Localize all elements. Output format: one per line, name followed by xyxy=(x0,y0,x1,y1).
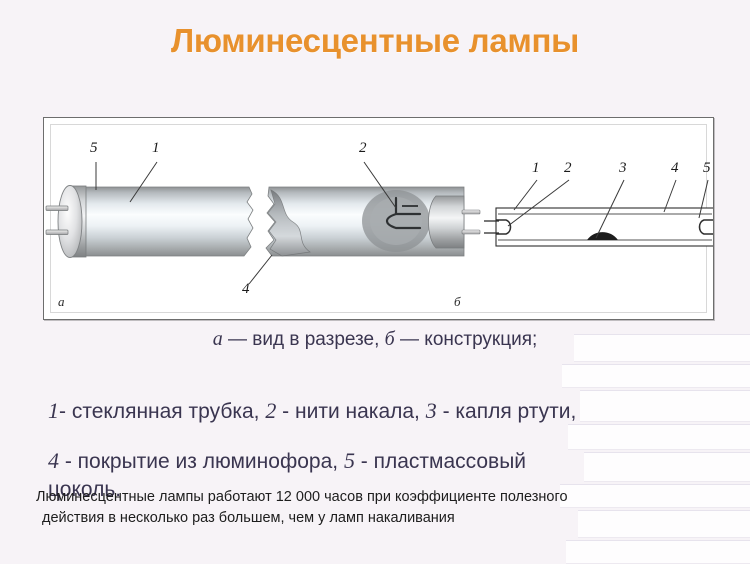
callout-b-5: 5 xyxy=(703,160,711,177)
callout-a-2: 2 xyxy=(359,140,367,157)
panel-letter-a: а xyxy=(58,294,65,310)
legend-text-3: - капля ртути, xyxy=(437,400,577,423)
legend-number-5: 5 xyxy=(344,448,355,473)
note-block: Люминесцентные лампы работают 12 000 час… xyxy=(36,487,676,529)
legend-number-3: 3 xyxy=(426,398,437,423)
book-stack-layer xyxy=(568,424,750,450)
legend-text-2: - нити накала, xyxy=(276,400,425,423)
callout-b-1: 1 xyxy=(532,160,540,177)
page-title: Люминесцентные лампы xyxy=(0,22,750,60)
legend-number-4: 4 xyxy=(48,448,59,473)
book-stack-layer xyxy=(566,540,750,564)
caption-text-b: — конструкция; xyxy=(395,329,538,350)
callout-a-5: 5 xyxy=(90,140,98,157)
legend-text-5: - пластмассовый xyxy=(355,450,526,473)
legend-number-1: 1 xyxy=(48,398,59,423)
callout-b-2: 2 xyxy=(564,160,572,177)
legend-line-2: 4 - покрытие из люминофора, 5 - пластмас… xyxy=(48,448,526,474)
panel-letter-b: б xyxy=(454,294,461,310)
note-line-1: Люминесцентные лампы работают 12 000 час… xyxy=(36,489,568,505)
book-stack-layer xyxy=(580,390,750,422)
legend-text-1: - стеклянная трубка, xyxy=(59,400,265,423)
callout-a-1: 1 xyxy=(152,140,160,157)
figure-caption: а — вид в разрезе, б — конструкция; xyxy=(0,328,750,351)
caption-letter-b: б xyxy=(385,328,395,350)
panel-a-artwork xyxy=(44,118,713,319)
callout-b-4: 4 xyxy=(671,160,679,177)
legend-line-1: 1- стеклянная трубка, 2 - нити накала, 3… xyxy=(48,398,576,424)
callout-b-3: 3 xyxy=(619,160,627,177)
caption-letter-a: а xyxy=(213,328,223,350)
caption-text-a: — вид в разрезе, xyxy=(223,329,385,350)
legend-number-2: 2 xyxy=(265,398,276,423)
callout-a-4: 4 xyxy=(242,281,250,298)
legend-text-4: - покрытие из люминофора, xyxy=(59,450,344,473)
book-stack-layer xyxy=(562,364,750,388)
figure-frame: 5 1 2 4 1 2 3 4 5 а б xyxy=(43,117,714,320)
note-line-2: действия в несколько раз большем, чем у … xyxy=(36,508,676,529)
book-stack-layer xyxy=(584,452,750,482)
